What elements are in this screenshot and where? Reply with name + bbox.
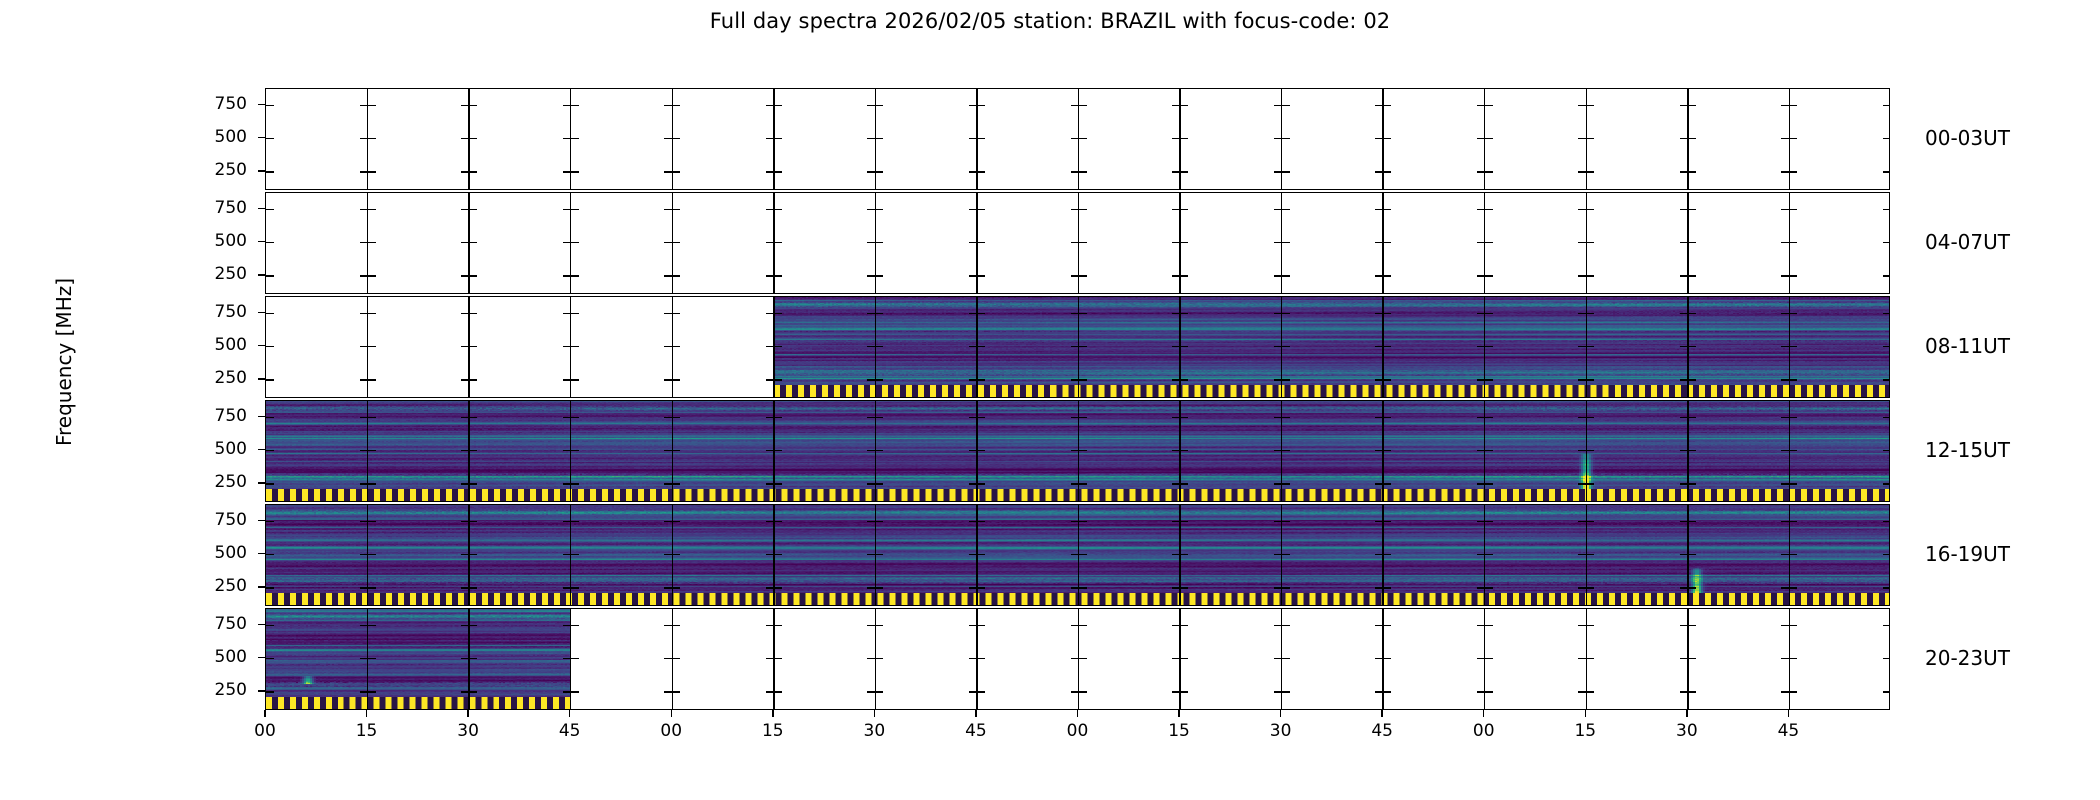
y-minor-tick bbox=[563, 138, 571, 139]
y-axis-tick bbox=[258, 520, 265, 521]
y-minor-tick bbox=[774, 379, 782, 380]
y-minor-tick bbox=[1485, 379, 1493, 380]
y-minor-tick bbox=[469, 275, 477, 276]
y-minor-tick bbox=[1079, 417, 1087, 418]
y-minor-tick bbox=[1383, 554, 1391, 555]
y-minor-tick bbox=[1477, 450, 1485, 451]
y-minor-tick bbox=[1079, 658, 1087, 659]
y-minor-tick bbox=[266, 209, 274, 210]
y-minor-tick bbox=[867, 138, 875, 139]
y-minor-tick bbox=[266, 450, 274, 451]
y-minor-tick bbox=[1477, 313, 1485, 314]
y-minor-tick bbox=[1180, 691, 1188, 692]
y-minor-tick bbox=[1274, 242, 1282, 243]
y-minor-tick bbox=[1781, 554, 1789, 555]
y-minor-tick bbox=[1375, 625, 1383, 626]
y-minor-tick bbox=[1688, 313, 1696, 314]
y-minor-tick bbox=[469, 171, 477, 172]
y-minor-tick bbox=[1789, 521, 1797, 522]
y-minor-tick bbox=[1375, 658, 1383, 659]
y-minor-tick bbox=[1375, 587, 1383, 588]
y-minor-tick bbox=[867, 658, 875, 659]
x-axis-tick-label: 15 bbox=[753, 721, 793, 741]
y-minor-tick bbox=[977, 313, 985, 314]
y-minor-tick bbox=[1586, 275, 1594, 276]
y-minor-tick bbox=[1172, 625, 1180, 626]
y-minor-tick bbox=[672, 105, 680, 106]
y-minor-tick bbox=[1789, 242, 1797, 243]
y-minor-tick bbox=[563, 521, 571, 522]
y-minor-tick bbox=[672, 554, 680, 555]
y-minor-tick bbox=[672, 209, 680, 210]
plot-axes bbox=[265, 296, 1890, 398]
y-minor-tick bbox=[1172, 379, 1180, 380]
y-minor-tick bbox=[1383, 625, 1391, 626]
y-minor-tick bbox=[368, 379, 376, 380]
y-axis-tick-label: 500 bbox=[187, 543, 247, 563]
y-minor-tick bbox=[1578, 313, 1586, 314]
y-minor-tick bbox=[1180, 209, 1188, 210]
y-minor-tick bbox=[1375, 521, 1383, 522]
y-minor-tick bbox=[360, 691, 368, 692]
y-minor-tick bbox=[563, 242, 571, 243]
y-minor-tick bbox=[368, 625, 376, 626]
y-minor-tick bbox=[1883, 450, 1890, 451]
y-minor-tick bbox=[1586, 242, 1594, 243]
y-minor-tick bbox=[266, 554, 274, 555]
y-minor-tick bbox=[766, 105, 774, 106]
spectrogram-row-16-19ut: 75050025016-19UT bbox=[265, 504, 1890, 606]
y-minor-tick bbox=[469, 483, 477, 484]
y-axis-tick bbox=[258, 657, 265, 658]
y-minor-tick bbox=[1883, 242, 1890, 243]
y-minor-tick bbox=[867, 313, 875, 314]
y-minor-tick bbox=[1282, 379, 1290, 380]
y-axis-tick-label: 750 bbox=[187, 406, 247, 426]
y-minor-tick bbox=[368, 346, 376, 347]
y-minor-tick bbox=[1282, 625, 1290, 626]
y-axis-tick-label: 250 bbox=[187, 160, 247, 180]
y-minor-tick bbox=[1688, 379, 1696, 380]
y-minor-tick bbox=[1586, 209, 1594, 210]
y-minor-tick bbox=[664, 313, 672, 314]
x-axis-tick-label: 30 bbox=[1261, 721, 1301, 741]
y-minor-tick bbox=[774, 450, 782, 451]
x-axis-tick-label: 15 bbox=[1565, 721, 1605, 741]
row-time-label: 08-11UT bbox=[1925, 334, 2010, 358]
y-minor-tick bbox=[875, 105, 883, 106]
y-minor-tick bbox=[1282, 521, 1290, 522]
y-minor-tick bbox=[867, 521, 875, 522]
y-minor-tick bbox=[266, 521, 274, 522]
y-axis-tick bbox=[258, 208, 265, 209]
y-minor-tick bbox=[1789, 587, 1797, 588]
y-minor-tick bbox=[1274, 521, 1282, 522]
row-time-label: 16-19UT bbox=[1925, 542, 2010, 566]
y-minor-tick bbox=[461, 587, 469, 588]
y-axis-tick bbox=[258, 553, 265, 554]
plot-axes bbox=[265, 504, 1890, 606]
y-minor-tick bbox=[1375, 691, 1383, 692]
y-minor-tick bbox=[571, 379, 579, 380]
y-minor-tick bbox=[1883, 346, 1890, 347]
y-minor-tick bbox=[1375, 209, 1383, 210]
y-minor-tick bbox=[1477, 171, 1485, 172]
x-axis-tick bbox=[671, 710, 672, 717]
y-minor-tick bbox=[969, 138, 977, 139]
y-minor-tick bbox=[1789, 138, 1797, 139]
y-minor-tick bbox=[1477, 346, 1485, 347]
y-minor-tick bbox=[1071, 691, 1079, 692]
y-minor-tick bbox=[1274, 625, 1282, 626]
y-minor-tick bbox=[1485, 275, 1493, 276]
y-minor-tick bbox=[1485, 450, 1493, 451]
y-minor-tick bbox=[1079, 691, 1087, 692]
y-minor-tick bbox=[1274, 346, 1282, 347]
y-minor-tick bbox=[1079, 625, 1087, 626]
y-minor-tick bbox=[1688, 450, 1696, 451]
y-minor-tick bbox=[1485, 209, 1493, 210]
x-axis-tick-label: 00 bbox=[1464, 721, 1504, 741]
y-minor-tick bbox=[1282, 105, 1290, 106]
y-minor-tick bbox=[1383, 171, 1391, 172]
x-axis-tick bbox=[1483, 710, 1484, 717]
y-minor-tick bbox=[1586, 346, 1594, 347]
x-axis-tick bbox=[772, 710, 773, 717]
y-axis-tick-label: 750 bbox=[187, 614, 247, 634]
y-minor-tick bbox=[1883, 209, 1890, 210]
y-minor-tick bbox=[766, 313, 774, 314]
y-minor-tick bbox=[266, 171, 274, 172]
spectrogram-row-08-11ut: 75050025008-11UT bbox=[265, 296, 1890, 398]
y-minor-tick bbox=[1383, 209, 1391, 210]
y-minor-tick bbox=[469, 521, 477, 522]
y-minor-tick bbox=[977, 242, 985, 243]
y-minor-tick bbox=[1383, 521, 1391, 522]
y-minor-tick bbox=[368, 658, 376, 659]
y-minor-tick bbox=[360, 625, 368, 626]
y-minor-tick bbox=[672, 587, 680, 588]
y-minor-tick bbox=[1383, 105, 1391, 106]
y-minor-tick bbox=[563, 658, 571, 659]
y-minor-tick bbox=[1688, 275, 1696, 276]
x-axis-tick-label: 45 bbox=[1768, 721, 1808, 741]
y-minor-tick bbox=[1383, 138, 1391, 139]
y-minor-tick bbox=[969, 275, 977, 276]
y-minor-tick bbox=[1789, 625, 1797, 626]
y-minor-tick bbox=[1688, 209, 1696, 210]
spectrogram-row-20-23ut: 75050025020-23UT bbox=[265, 608, 1890, 710]
y-minor-tick bbox=[1079, 450, 1087, 451]
y-minor-tick bbox=[1282, 138, 1290, 139]
y-minor-tick bbox=[1282, 171, 1290, 172]
y-minor-tick bbox=[571, 554, 579, 555]
y-minor-tick bbox=[875, 625, 883, 626]
y-minor-tick bbox=[1274, 483, 1282, 484]
y-axis-tick bbox=[258, 378, 265, 379]
y-minor-tick bbox=[1172, 658, 1180, 659]
plot-axes bbox=[265, 400, 1890, 502]
y-minor-tick bbox=[1282, 417, 1290, 418]
y-minor-tick bbox=[664, 625, 672, 626]
y-minor-tick bbox=[1375, 313, 1383, 314]
y-minor-tick bbox=[1071, 242, 1079, 243]
y-minor-tick bbox=[1477, 275, 1485, 276]
y-minor-tick bbox=[1383, 346, 1391, 347]
y-minor-tick bbox=[469, 379, 477, 380]
y-minor-tick bbox=[664, 105, 672, 106]
y-minor-tick bbox=[1477, 625, 1485, 626]
y-axis-tick-label: 250 bbox=[187, 472, 247, 492]
y-minor-tick bbox=[1680, 521, 1688, 522]
y-minor-tick bbox=[368, 275, 376, 276]
y-minor-tick bbox=[774, 346, 782, 347]
y-axis-tick bbox=[258, 449, 265, 450]
x-axis-tick-label: 00 bbox=[245, 721, 285, 741]
y-minor-tick bbox=[1071, 521, 1079, 522]
y-minor-tick bbox=[469, 105, 477, 106]
y-minor-tick bbox=[1781, 171, 1789, 172]
y-minor-tick bbox=[664, 554, 672, 555]
y-minor-tick bbox=[1789, 417, 1797, 418]
y-minor-tick bbox=[266, 625, 274, 626]
y-minor-tick bbox=[461, 105, 469, 106]
y-axis-tick bbox=[258, 624, 265, 625]
y-minor-tick bbox=[368, 171, 376, 172]
y-minor-tick bbox=[664, 275, 672, 276]
y-minor-tick bbox=[1282, 242, 1290, 243]
data-quality-flag-strip bbox=[774, 385, 1889, 397]
x-axis-tick-label: 45 bbox=[550, 721, 590, 741]
y-axis-tick bbox=[258, 241, 265, 242]
y-minor-tick bbox=[571, 242, 579, 243]
y-minor-tick bbox=[1383, 483, 1391, 484]
y-minor-tick bbox=[571, 209, 579, 210]
y-minor-tick bbox=[1578, 417, 1586, 418]
y-minor-tick bbox=[1172, 587, 1180, 588]
y-minor-tick bbox=[1781, 691, 1789, 692]
y-minor-tick bbox=[1079, 521, 1087, 522]
y-minor-tick bbox=[977, 521, 985, 522]
y-minor-tick bbox=[867, 554, 875, 555]
y-minor-tick bbox=[461, 242, 469, 243]
y-minor-tick bbox=[977, 138, 985, 139]
y-axis-tick bbox=[258, 482, 265, 483]
y-minor-tick bbox=[672, 625, 680, 626]
y-minor-tick bbox=[1375, 379, 1383, 380]
y-minor-tick bbox=[1274, 105, 1282, 106]
y-minor-tick bbox=[571, 171, 579, 172]
y-minor-tick bbox=[875, 450, 883, 451]
y-minor-tick bbox=[1485, 242, 1493, 243]
y-minor-tick bbox=[875, 346, 883, 347]
y-minor-tick bbox=[1578, 587, 1586, 588]
y-minor-tick bbox=[1781, 346, 1789, 347]
y-minor-tick bbox=[1180, 625, 1188, 626]
y-minor-tick bbox=[867, 105, 875, 106]
y-minor-tick bbox=[1477, 587, 1485, 588]
y-minor-tick bbox=[571, 313, 579, 314]
y-minor-tick bbox=[875, 242, 883, 243]
y-minor-tick bbox=[1477, 379, 1485, 380]
y-minor-tick bbox=[1586, 171, 1594, 172]
y-minor-tick bbox=[563, 625, 571, 626]
y-minor-tick bbox=[1274, 417, 1282, 418]
y-axis-tick-label: 500 bbox=[187, 647, 247, 667]
y-minor-tick bbox=[766, 242, 774, 243]
y-minor-tick bbox=[1172, 346, 1180, 347]
y-minor-tick bbox=[875, 691, 883, 692]
y-minor-tick bbox=[969, 521, 977, 522]
y-axis-tick-label: 500 bbox=[187, 335, 247, 355]
y-minor-tick bbox=[1883, 105, 1890, 106]
y-minor-tick bbox=[875, 554, 883, 555]
x-axis-tick bbox=[1381, 710, 1382, 717]
y-minor-tick bbox=[1274, 691, 1282, 692]
y-minor-tick bbox=[766, 379, 774, 380]
y-minor-tick bbox=[1789, 171, 1797, 172]
y-minor-tick bbox=[1375, 483, 1383, 484]
y-minor-tick bbox=[1586, 483, 1594, 484]
y-minor-tick bbox=[1781, 625, 1789, 626]
y-minor-tick bbox=[563, 483, 571, 484]
y-minor-tick bbox=[1079, 171, 1087, 172]
y-minor-tick bbox=[977, 379, 985, 380]
y-minor-tick bbox=[969, 554, 977, 555]
row-time-label: 00-03UT bbox=[1925, 126, 2010, 150]
x-axis-tick-label: 15 bbox=[1159, 721, 1199, 741]
y-minor-tick bbox=[266, 242, 274, 243]
y-minor-tick bbox=[360, 554, 368, 555]
y-minor-tick bbox=[1578, 554, 1586, 555]
y-minor-tick bbox=[571, 105, 579, 106]
y-minor-tick bbox=[1688, 625, 1696, 626]
y-minor-tick bbox=[1274, 658, 1282, 659]
y-axis-tick-label: 250 bbox=[187, 264, 247, 284]
y-minor-tick bbox=[1274, 275, 1282, 276]
y-minor-tick bbox=[360, 658, 368, 659]
y-minor-tick bbox=[563, 346, 571, 347]
y-minor-tick bbox=[1586, 658, 1594, 659]
y-minor-tick bbox=[1079, 105, 1087, 106]
y-minor-tick bbox=[461, 521, 469, 522]
y-minor-tick bbox=[1586, 138, 1594, 139]
y-minor-tick bbox=[1883, 554, 1890, 555]
y-minor-tick bbox=[1180, 313, 1188, 314]
y-minor-tick bbox=[1781, 587, 1789, 588]
y-minor-tick bbox=[1781, 242, 1789, 243]
y-minor-tick bbox=[1485, 483, 1493, 484]
y-minor-tick bbox=[1383, 691, 1391, 692]
y-minor-tick bbox=[1680, 242, 1688, 243]
y-minor-tick bbox=[368, 691, 376, 692]
y-minor-tick bbox=[1383, 587, 1391, 588]
y-minor-tick bbox=[977, 554, 985, 555]
y-minor-tick bbox=[1071, 209, 1079, 210]
y-minor-tick bbox=[1383, 313, 1391, 314]
spectrogram-row-04-07ut: 75050025004-07UT bbox=[265, 192, 1890, 294]
y-minor-tick bbox=[977, 209, 985, 210]
y-minor-tick bbox=[1680, 483, 1688, 484]
y-minor-tick bbox=[1180, 138, 1188, 139]
y-minor-tick bbox=[571, 450, 579, 451]
y-minor-tick bbox=[360, 138, 368, 139]
y-minor-tick bbox=[469, 658, 477, 659]
y-minor-tick bbox=[266, 691, 274, 692]
y-minor-tick bbox=[1375, 171, 1383, 172]
y-minor-tick bbox=[672, 417, 680, 418]
x-axis-tick bbox=[1280, 710, 1281, 717]
y-minor-tick bbox=[1789, 346, 1797, 347]
x-axis-tick bbox=[264, 710, 265, 717]
y-minor-tick bbox=[469, 138, 477, 139]
y-minor-tick bbox=[774, 417, 782, 418]
y-minor-tick bbox=[1680, 346, 1688, 347]
y-minor-tick bbox=[867, 625, 875, 626]
x-axis-tick bbox=[1178, 710, 1179, 717]
y-minor-tick bbox=[977, 483, 985, 484]
y-minor-tick bbox=[571, 587, 579, 588]
y-minor-tick bbox=[867, 691, 875, 692]
y-minor-tick bbox=[867, 379, 875, 380]
y-minor-tick bbox=[266, 138, 274, 139]
y-axis-tick bbox=[258, 345, 265, 346]
data-quality-flag-strip bbox=[266, 697, 571, 709]
y-minor-tick bbox=[469, 209, 477, 210]
y-minor-tick bbox=[360, 417, 368, 418]
y-minor-tick bbox=[875, 171, 883, 172]
y-minor-tick bbox=[1789, 209, 1797, 210]
y-minor-tick bbox=[1375, 450, 1383, 451]
y-minor-tick bbox=[1586, 625, 1594, 626]
y-minor-tick bbox=[1789, 691, 1797, 692]
y-minor-tick bbox=[360, 379, 368, 380]
y-minor-tick bbox=[1485, 521, 1493, 522]
y-minor-tick bbox=[969, 242, 977, 243]
y-minor-tick bbox=[563, 171, 571, 172]
y-minor-tick bbox=[1375, 275, 1383, 276]
y-minor-tick bbox=[368, 138, 376, 139]
y-minor-tick bbox=[266, 105, 274, 106]
y-minor-tick bbox=[461, 275, 469, 276]
row-time-label: 20-23UT bbox=[1925, 646, 2010, 670]
x-axis-tick bbox=[975, 710, 976, 717]
y-minor-tick bbox=[774, 691, 782, 692]
y-minor-tick bbox=[664, 379, 672, 380]
y-axis-tick bbox=[258, 690, 265, 691]
y-minor-tick bbox=[1375, 242, 1383, 243]
y-minor-tick bbox=[867, 450, 875, 451]
y-minor-tick bbox=[672, 658, 680, 659]
y-minor-tick bbox=[766, 275, 774, 276]
y-axis-tick bbox=[258, 104, 265, 105]
y-minor-tick bbox=[969, 346, 977, 347]
x-axis-tick bbox=[569, 710, 570, 717]
y-minor-tick bbox=[368, 242, 376, 243]
y-minor-tick bbox=[1781, 313, 1789, 314]
y-minor-tick bbox=[1180, 379, 1188, 380]
y-minor-tick bbox=[1282, 450, 1290, 451]
y-minor-tick bbox=[664, 242, 672, 243]
y-minor-tick bbox=[664, 658, 672, 659]
y-minor-tick bbox=[1079, 554, 1087, 555]
y-minor-tick bbox=[969, 691, 977, 692]
y-minor-tick bbox=[867, 275, 875, 276]
y-minor-tick bbox=[1883, 625, 1890, 626]
y-minor-tick bbox=[774, 105, 782, 106]
y-minor-tick bbox=[469, 242, 477, 243]
y-minor-tick bbox=[969, 313, 977, 314]
